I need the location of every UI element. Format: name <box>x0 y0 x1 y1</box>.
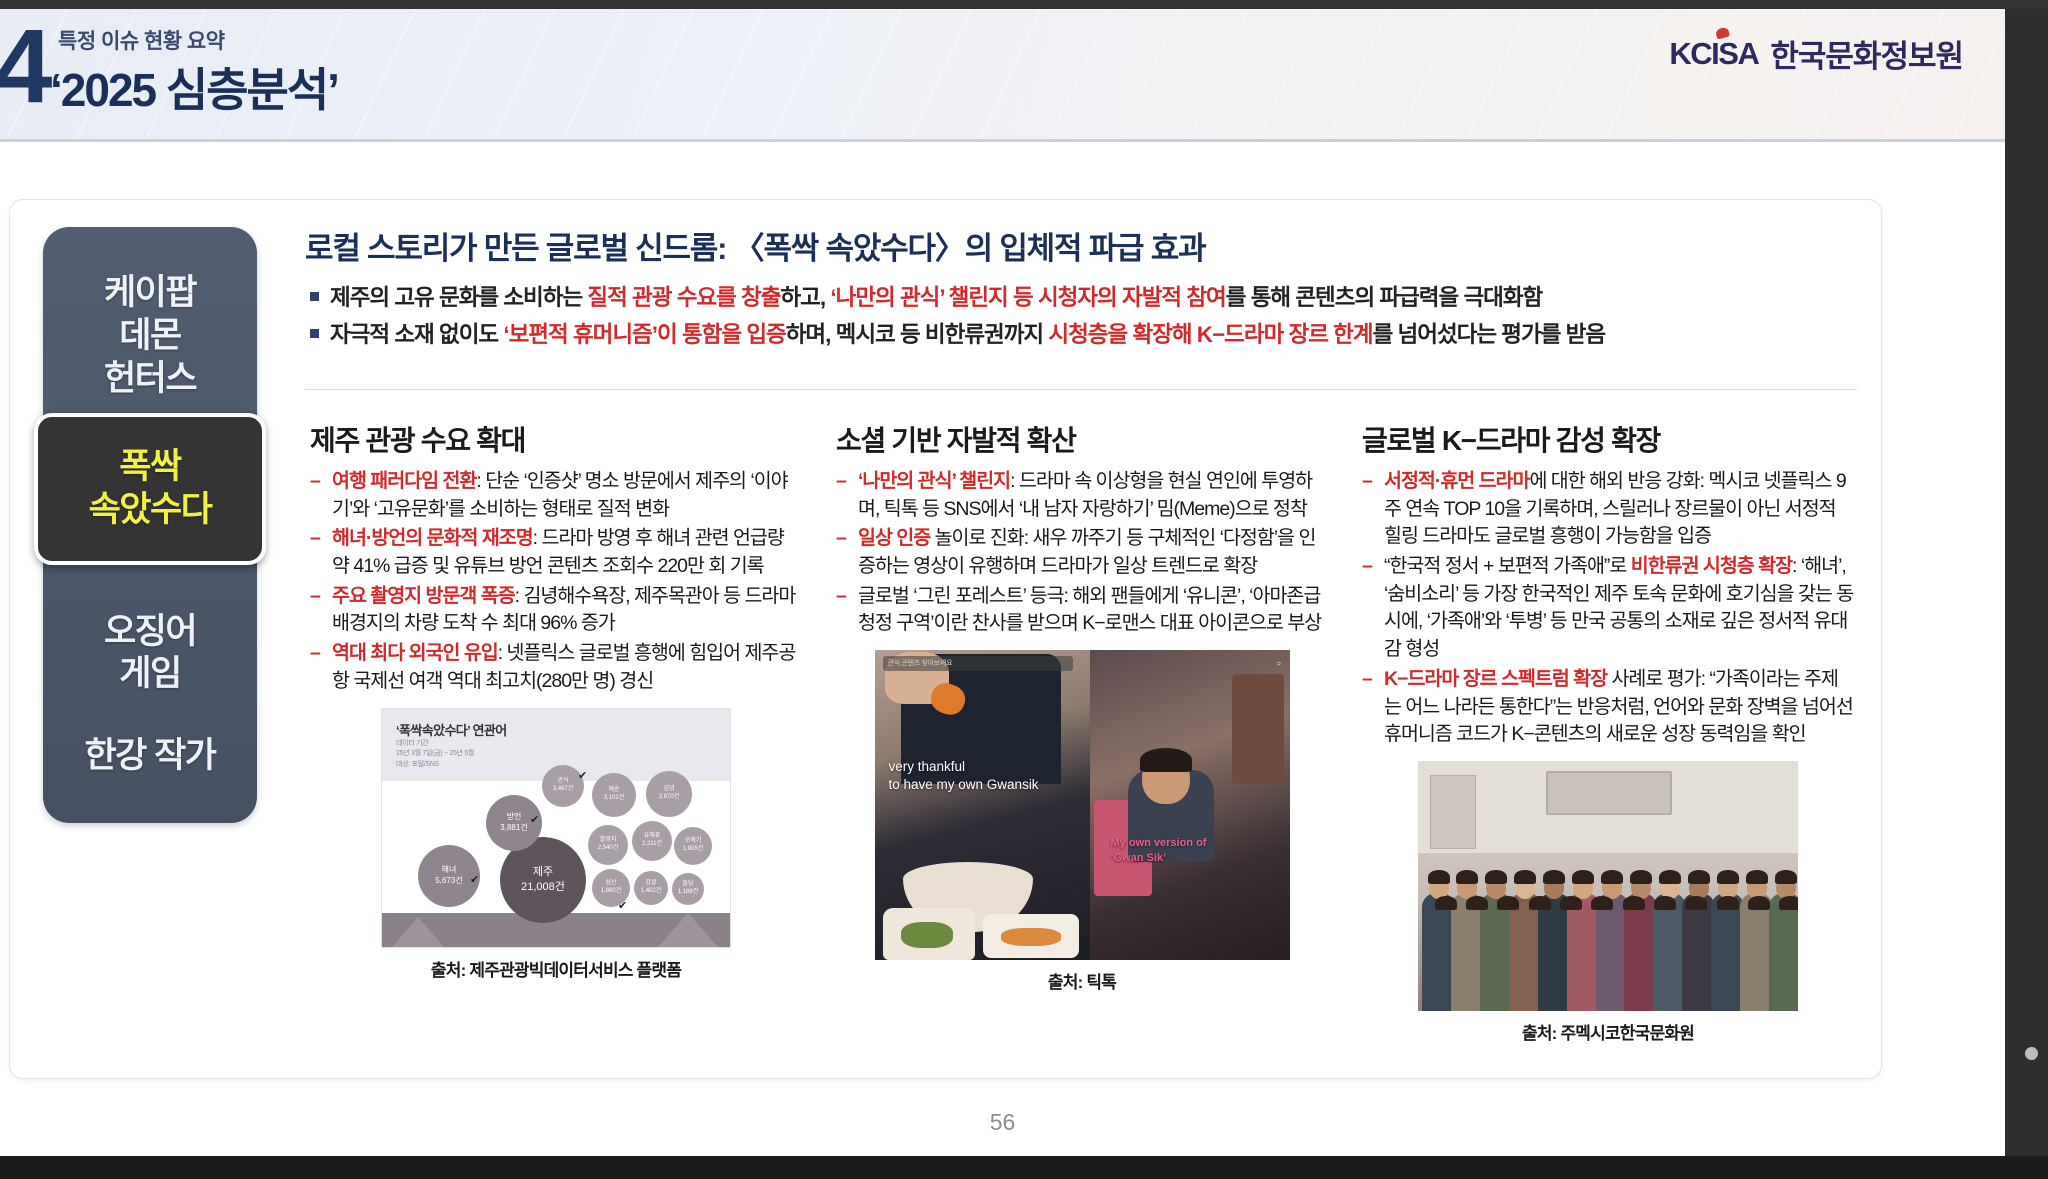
plain-text: 하고, <box>780 285 830 310</box>
bubble-label: 오메기 <box>685 838 702 846</box>
main-content: 로컬 스토리가 만든 글로벌 신드롬: 〈폭싹 속았수다〉의 입체적 파급 효과… <box>305 223 1860 355</box>
photo-person <box>1480 893 1513 1011</box>
bubble-label: 해녀 <box>442 865 457 875</box>
photo-person-hair <box>1601 870 1623 884</box>
tiktok-right-frame <box>1090 650 1290 960</box>
tiktok-person-hair <box>1140 748 1192 772</box>
column-list-item-text: 해녀·방언의 문화적 재조명: 드라마 방영 후 해녀 관련 언급량 약 41%… <box>332 525 802 580</box>
photo-doorway <box>1430 775 1476 849</box>
wordcloud-bubble: 촬영지 2,540건 <box>588 825 628 865</box>
highlighted-text: 일상 인증 <box>858 527 930 549</box>
photo-person-hair <box>1779 896 1798 910</box>
photo-person <box>1567 893 1600 1011</box>
lead-bullet-row: 제주의 고유 문화를 소비하는 질적 관광 수요를 창출하고, ‘나만의 관식’… <box>305 281 1860 316</box>
highlighted-text: ‘나만의 관식’ 챌린지 등 시청자의 자발적 참여 <box>830 285 1225 310</box>
highlighted-text: 비한류권 시청층 확장 <box>1631 555 1792 577</box>
column-list-item: –일상 인증 놀이로 진화: 새우 까주기 등 구체적인 ‘다정함’을 인증하는… <box>836 525 1328 580</box>
column-list-item-text: ‘나만의 관식’ 챌린지: 드라마 속 이상형을 현실 연인에 투영하며, 틱톡… <box>858 468 1328 523</box>
bubble-label: 유채꽃 <box>644 833 661 841</box>
photo-person-hair <box>1688 870 1710 884</box>
wordcloud-subtitle: 데이터 기간25년 3월 7일(금) ~ 25년 5월대상: 포털/SNS <box>396 739 474 771</box>
tiktok-caption-right-line-2: ‘Gwan Sik’ <box>1111 851 1207 866</box>
lead-bullet-text: 제주의 고유 문화를 소비하는 질적 관광 수요를 창출하고, ‘나만의 관식’… <box>330 281 1542 316</box>
photo-person-hair <box>1659 870 1681 884</box>
plain-text: 자극적 소재 없이도 <box>330 322 503 347</box>
plain-text: 글로벌 ‘그린 포레스트’ 등극: 해외 팬들에게 ‘유니콘’, ‘아마존급 청… <box>858 585 1321 635</box>
viewer-right-gutter <box>2005 9 2048 1156</box>
tiktok-screenshot: 관식 콘텐츠 찾아보세요 ⌕ very thankful to have my … <box>875 650 1290 960</box>
wordcloud-bubble: 감귤 1,402건 <box>634 871 668 905</box>
column-list-item: –역대 최다 외국인 유입: 넷플릭스 글로벌 흥행에 힘입어 제주공항 국제선… <box>310 640 802 695</box>
highlighted-text: ‘나만의 관식’ 챌린지 <box>858 470 1010 492</box>
photo-person-hair <box>1456 870 1478 884</box>
column-items: –‘나만의 관식’ 챌린지: 드라마 속 이상형을 현실 연인에 투영하며, 틱… <box>836 468 1328 638</box>
plain-text: 를 넘어섰다는 평가를 받음 <box>1373 322 1605 347</box>
dash-bullet-icon: – <box>310 583 332 611</box>
highlighted-text: 시청층을 확장해 K−드라마 장르 한계 <box>1048 322 1372 347</box>
figure-wordcloud: ‘폭싹속았수다’ 연관어 데이터 기간25년 3월 7일(금) ~ 25년 5월… <box>310 708 802 981</box>
sidebar-item-han-kang-author[interactable]: 한강 작가 <box>43 727 257 786</box>
bubble-label: 돌담 <box>682 881 693 889</box>
tiktok-greens <box>901 922 953 948</box>
tiktok-cabinet <box>1232 674 1284 784</box>
photo-person-hair <box>1543 870 1565 884</box>
dash-bullet-icon: – <box>310 525 332 553</box>
viewer-bottom-gutter <box>0 1156 2048 1179</box>
photo-person-hair <box>1485 870 1507 884</box>
dash-bullet-icon: – <box>1362 666 1384 694</box>
column-list-item-text: 주요 촬영지 방문객 폭증: 김녕해수욕장, 제주목관아 등 드라마 배경지의 … <box>332 583 802 638</box>
column-items: –서정적·휴먼 드라마에 대한 해외 반응 강화: 멕시코 넷플릭스 9주 연속… <box>1362 468 1854 749</box>
photo-person-hair <box>1435 896 1457 910</box>
photo-person-hair <box>1775 870 1797 884</box>
wordcloud-bubble: 애순 3,102건 <box>592 773 636 817</box>
dash-bullet-icon: – <box>836 468 858 496</box>
square-bullet-icon <box>310 329 319 338</box>
highlighted-text: 해녀·방언의 문화적 재조명 <box>332 527 533 549</box>
column-items: –여행 패러다임 전환: 단순 ‘인증샷’ 명소 방문에서 제주의 ‘이야기’와… <box>310 468 802 696</box>
bubble-label: 감귤 <box>645 880 656 888</box>
plain-text: 를 통해 콘텐츠의 파급력을 극대화함 <box>1226 285 1543 310</box>
photo-person-hair <box>1428 870 1450 884</box>
bubble-value: 2,211건 <box>642 841 662 849</box>
dash-bullet-icon: – <box>1362 468 1384 496</box>
column-list-item: –주요 촬영지 방문객 폭증: 김녕해수욕장, 제주목관아 등 드라마 배경지의… <box>310 583 802 638</box>
sidebar-item-label: 한강 작가 <box>43 735 257 778</box>
photo-person <box>1538 893 1571 1011</box>
bubble-value: 3,102건 <box>604 795 625 803</box>
photo-person-hair <box>1717 870 1739 884</box>
bubble-label: 촬영지 <box>600 837 617 845</box>
brand-name-text: 한국문화정보원 <box>1770 31 1963 76</box>
dash-bullet-icon: – <box>836 525 858 553</box>
highlighted-text: 서정적·휴먼 드라마 <box>1384 470 1529 492</box>
tiktok-caption-line-2: to have my own Gwansik <box>889 776 1039 794</box>
column-list-item-text: “한국적 정서 + 보편적 가족애”로 비한류권 시청층 확장: ‘해녀’, ‘… <box>1384 553 1854 664</box>
sidebar-item-kpop-demon-hunters[interactable]: 케이팝데몬헌터스 <box>43 264 257 408</box>
tiktok-left-frame <box>875 650 1090 960</box>
column-list-item: –서정적·휴먼 드라마에 대한 해외 반응 강화: 멕시코 넷플릭스 9주 연속… <box>1362 468 1854 551</box>
column-list-item-text: 역대 최다 외국인 유입: 넷플릭스 글로벌 흥행에 힘입어 제주공항 국제선 … <box>332 640 802 695</box>
dash-bullet-icon: – <box>310 468 332 496</box>
check-mark-icon: ✔ <box>530 813 539 826</box>
wordcloud-bubble: 유채꽃 2,211건 <box>632 821 672 861</box>
figure-group-photo: 출처: 주멕시코한국문화원 <box>1362 761 1854 1044</box>
column-title: 제주 관광 수요 확대 <box>310 419 802 459</box>
slide-viewer: 4 특정 이슈 현황 요약 ‘2025 심층분석’ KCISA 한국문화정보원 … <box>0 0 2048 1179</box>
bubble-value: 2,870건 <box>659 794 680 802</box>
wordcloud-title: ‘폭싹속았수다’ 연관어 <box>396 720 507 739</box>
tiktok-fish <box>1001 928 1061 946</box>
photo-person-hair <box>1685 896 1707 910</box>
dash-bullet-icon: – <box>1362 553 1384 581</box>
bubble-value: 2,540건 <box>598 845 619 853</box>
highlighted-text: 여행 패러다임 전환 <box>332 470 476 492</box>
header-divider <box>0 139 2005 142</box>
wordcloud-bubble: 오메기 1,905건 <box>674 827 712 865</box>
column-social-spread: 소셜 기반 자발적 확산 –‘나만의 관식’ 챌린지: 드라마 속 이상형을 현… <box>836 419 1328 1044</box>
bubble-value: 3,881건 <box>500 823 527 833</box>
bubble-value: 21,008건 <box>521 880 565 894</box>
scroll-indicator-dot[interactable] <box>2025 1047 2038 1060</box>
tiktok-caption-line-1: very thankful <box>889 758 1039 776</box>
section-number: 4 <box>0 14 46 119</box>
main-heading: 로컬 스토리가 만든 글로벌 신드롬: 〈폭싹 속았수다〉의 입체적 파급 효과 <box>305 223 1860 268</box>
column-list-item-text: K−드라마 장르 스펙트럼 확장 사례로 평가: “가족이라는 주제는 어느 나… <box>1384 666 1854 749</box>
column-jeju-tourism: 제주 관광 수요 확대 –여행 패러다임 전환: 단순 ‘인증샷’ 명소 방문에… <box>310 419 802 1044</box>
column-list-item: –글로벌 ‘그린 포레스트’ 등극: 해외 팬들에게 ‘유니콘’, ‘아마존급 … <box>836 583 1328 638</box>
photo-person <box>1509 893 1542 1011</box>
bubble-value: 1,188건 <box>678 889 699 897</box>
column-global-kdrama: 글로벌 K−드라마 감성 확장 –서정적·휴먼 드라마에 대한 해외 반응 강화… <box>1362 419 1854 1044</box>
page-title: ‘2025 심층분석’ <box>50 54 338 120</box>
column-list-item-text: 서정적·휴먼 드라마에 대한 해외 반응 강화: 멕시코 넷플릭스 9주 연속 … <box>1384 468 1854 551</box>
lead-bullet-row: 자극적 소재 없이도 ‘보편적 휴머니즘’이 통함을 입증하며, 멕시코 등 비… <box>305 318 1860 353</box>
sidebar-item-label: 케이팝데몬헌터스 <box>43 272 257 400</box>
search-icon[interactable]: ⌕ <box>1276 658 1281 669</box>
plain-text: 하며, 멕시코 등 비한류권까지 <box>786 322 1049 347</box>
tiktok-caption-right-line-1: My own version of <box>1111 836 1207 851</box>
photo-person-hair <box>1591 896 1613 910</box>
figure-caption: 출처: 주멕시코한국문화원 <box>1362 1019 1854 1044</box>
tiktok-caption-right: My own version of ‘Gwan Sik’ <box>1111 836 1207 866</box>
photo-person-hair <box>1623 896 1645 910</box>
figure-caption: 출처: 제주관광빅데이터서비스 플랫폼 <box>310 956 802 981</box>
check-mark-icon: ✔ <box>470 873 479 886</box>
viewer-top-bar <box>0 0 2048 9</box>
brand-logo: KCISA 한국문화정보원 <box>1669 31 1963 76</box>
photo-person-hair <box>1497 896 1519 910</box>
three-column-area: 제주 관광 수요 확대 –여행 패러다임 전환: 단순 ‘인증샷’ 명소 방문에… <box>310 419 1855 1044</box>
photo-person <box>1451 893 1484 1011</box>
photo-projector-screen <box>1546 771 1672 815</box>
dash-bullet-icon: – <box>310 640 332 668</box>
wordcloud-bubble: 돌담 1,188건 <box>672 873 704 905</box>
highlighted-text: ‘보편적 휴머니즘’이 통함을 입증 <box>503 322 785 347</box>
group-photo-image <box>1418 761 1798 1011</box>
column-list-item-text: 여행 패러다임 전환: 단순 ‘인증샷’ 명소 방문에서 제주의 ‘이야기’와 … <box>332 468 802 523</box>
kcisa-wordmark: KCISA <box>1669 36 1758 72</box>
column-title: 글로벌 K−드라마 감성 확장 <box>1362 419 1854 459</box>
photo-person <box>1769 893 1798 1011</box>
tiktok-search-text: 관식 콘텐츠 찾아보세요 <box>888 658 953 668</box>
photo-person-hair <box>1717 896 1739 910</box>
highlighted-text: 주요 촬영지 방문객 폭증 <box>332 585 515 607</box>
bubble-label: 방언 <box>507 812 522 822</box>
highlighted-text: 질적 관광 수요를 창출 <box>587 285 780 310</box>
column-list-item-text: 글로벌 ‘그린 포레스트’ 등극: 해외 팬들에게 ‘유니콘’, ‘아마존급 청… <box>858 583 1328 638</box>
dash-bullet-icon: – <box>836 583 858 611</box>
page-number: 56 <box>0 1109 2005 1136</box>
photo-person-hair <box>1560 896 1582 910</box>
column-list-item: –K−드라마 장르 스펙트럼 확장 사례로 평가: “가족이라는 주제는 어느 … <box>1362 666 1854 749</box>
bubble-label: 제주 <box>533 865 553 879</box>
figure-tiktok: 관식 콘텐츠 찾아보세요 ⌕ very thankful to have my … <box>836 650 1328 993</box>
lead-bullet-text: 자극적 소재 없이도 ‘보편적 휴머니즘’이 통함을 입증하며, 멕시코 등 비… <box>330 318 1605 353</box>
photo-person-hair <box>1654 896 1676 910</box>
bubble-value: 1,402건 <box>641 888 662 896</box>
bubble-value: 5,673건 <box>435 876 462 886</box>
plain-text: “한국적 정서 + 보편적 가족애”로 <box>1384 555 1631 577</box>
column-list-item-text: 일상 인증 놀이로 진화: 새우 까주기 등 구체적인 ‘다정함’을 인증하는 … <box>858 525 1328 580</box>
slide-header: 4 특정 이슈 현황 요약 ‘2025 심층분석’ KCISA 한국문화정보원 <box>0 9 2005 142</box>
highlighted-text: 역대 최다 외국인 유입 <box>332 642 498 664</box>
sidebar-item-squid-game[interactable]: 오징어게임 <box>43 603 257 704</box>
highlighted-text: K−드라마 장르 스펙트럼 확장 <box>1384 668 1607 690</box>
photo-person-hair <box>1514 870 1536 884</box>
photo-person-hair <box>1572 870 1594 884</box>
sidebar-item-pokssak-sogatsuda[interactable]: 폭싹속았수다 <box>34 413 266 565</box>
section-kicker: 특정 이슈 현황 요약 <box>58 25 225 55</box>
sidebar-item-label: 오징어게임 <box>43 611 257 696</box>
check-mark-icon: ✔ <box>618 899 627 912</box>
bubble-value: 1,905건 <box>683 846 704 854</box>
bubble-label: 김녕 <box>663 786 674 794</box>
topic-sidebar: 케이팝데몬헌터스 폭싹속았수다 오징어게임 한강 작가 <box>43 227 257 823</box>
bubble-value: 1,660건 <box>601 888 622 896</box>
plain-text: 제주의 고유 문화를 소비하는 <box>330 285 587 310</box>
photo-person-hair <box>1466 896 1488 910</box>
bubble-value: 3,467건 <box>553 786 574 794</box>
column-list-item: –여행 패러다임 전환: 단순 ‘인증샷’ 명소 방문에서 제주의 ‘이야기’와… <box>310 468 802 523</box>
check-mark-icon: ✔ <box>578 769 587 782</box>
figure-caption: 출처: 틱톡 <box>836 968 1328 993</box>
sidebar-item-label: 폭싹속았수다 <box>89 446 212 531</box>
column-title: 소셜 기반 자발적 확산 <box>836 419 1328 459</box>
photo-person-hair <box>1748 896 1770 910</box>
column-list-item: –“한국적 정서 + 보편적 가족애”로 비한류권 시청층 확장: ‘해녀’, … <box>1362 553 1854 664</box>
section-divider <box>305 389 1857 390</box>
tiktok-caption-left: very thankful to have my own Gwansik <box>889 758 1039 794</box>
photo-person-hair <box>1630 870 1652 884</box>
square-bullet-icon <box>310 292 319 301</box>
slide-canvas: 4 특정 이슈 현황 요약 ‘2025 심층분석’ KCISA 한국문화정보원 … <box>0 9 2005 1156</box>
wordcloud-bubble: 김녕 2,870건 <box>646 771 692 817</box>
bubble-label: 관식 <box>557 778 568 786</box>
column-list-item: –해녀·방언의 문화적 재조명: 드라마 방영 후 해녀 관련 언급량 약 41… <box>310 525 802 580</box>
photo-person-hair <box>1746 870 1768 884</box>
bubble-label: 애순 <box>608 787 619 795</box>
bubble-label: 성산 <box>605 880 616 888</box>
kcisa-wordmark-text: KCISA <box>1669 36 1758 71</box>
wordcloud-image: ‘폭싹속았수다’ 연관어 데이터 기간25년 3월 7일(금) ~ 25년 5월… <box>381 708 731 948</box>
photo-person-hair <box>1529 896 1551 910</box>
column-list-item: –‘나만의 관식’ 챌린지: 드라마 속 이상형을 현실 연인에 투영하며, 틱… <box>836 468 1328 523</box>
